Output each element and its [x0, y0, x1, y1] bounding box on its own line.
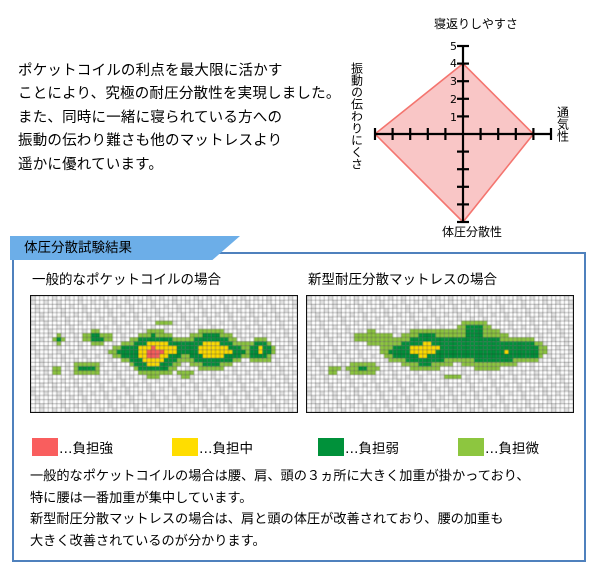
- intro-line: 遥かに優れています。: [18, 154, 328, 177]
- radar-tick-label-1: 1: [450, 111, 457, 124]
- pressure-map-conventional: [30, 295, 298, 413]
- pressure-map-canvas: [31, 296, 297, 412]
- result-notes: 一般的なポケットコイルの場合は腰、肩、頭の３ヵ所に大きく加重が掛かっており、 特…: [30, 466, 578, 552]
- legend-item-strong: …負担強: [32, 436, 113, 458]
- legend-label-minimal: …負担微: [485, 437, 539, 457]
- intro-line: ことにより、究極の耐圧分散性を実現しました。: [18, 83, 328, 106]
- legend-swatch-strong: [32, 438, 58, 456]
- radar-axis-label-right: 通気性: [556, 106, 568, 142]
- panel-title: 一般的なポケットコイルの場合: [32, 268, 302, 288]
- legend-label-strong: …負担強: [59, 437, 113, 457]
- intro-line: また、同時に一緒に寝られている方への: [18, 107, 328, 130]
- legend-swatch-weak: [318, 438, 344, 456]
- note-line: 特に腰は一番加重が集中しています。: [30, 488, 578, 510]
- note-line: 一般的なポケットコイルの場合は腰、肩、頭の３ヵ所に大きく加重が掛かっており、: [30, 466, 578, 488]
- intro-paragraph: ポケットコイルの利点を最大限に活かす ことにより、究極の耐圧分散性を実現しました…: [18, 60, 328, 177]
- legend-label-weak: …負担弱: [345, 437, 399, 457]
- radar-tick-label-2: 2: [450, 93, 457, 106]
- pressure-map-new: [306, 295, 574, 413]
- product-info-page: ポケットコイルの利点を最大限に活かす ことにより、究極の耐圧分散性を実現しました…: [0, 0, 600, 579]
- pressure-test-section: 一般的なポケットコイルの場合 新型耐圧分散マットレスの場合 …負担強 …負担中: [12, 252, 586, 562]
- radar-axis-label-top: 寝返りしやすさ: [421, 18, 531, 30]
- radar-tick-label-4: 4: [450, 57, 457, 70]
- note-line: 大きく改善されているのが分かります。: [30, 531, 578, 553]
- legend-item-medium: …負担中: [172, 436, 253, 458]
- radar-axis-label-bottom: 体圧分散性: [417, 226, 527, 238]
- intro-line: 振動の伝わり難さも他のマットレスより: [18, 130, 328, 153]
- section-banner: 体圧分散試験結果: [10, 236, 240, 260]
- panel-conventional: 一般的なポケットコイルの場合: [30, 268, 302, 413]
- intro-line: ポケットコイルの利点を最大限に活かす: [18, 60, 328, 83]
- legend-item-minimal: …負担微: [458, 436, 539, 458]
- pressure-map-panels: 一般的なポケットコイルの場合 新型耐圧分散マットレスの場合: [14, 268, 584, 436]
- legend-label-medium: …負担中: [199, 437, 253, 457]
- radar-tick-label-3: 3: [450, 75, 457, 88]
- note-line: 新型耐圧分散マットレスの場合は、肩と頭の体圧が改善されており、腰の加重も: [30, 509, 578, 531]
- legend-item-weak: …負担弱: [318, 436, 399, 458]
- radar-tick-label-5: 5: [450, 40, 457, 53]
- pressure-map-canvas: [307, 296, 573, 412]
- panel-title: 新型耐圧分散マットレスの場合: [308, 268, 578, 288]
- legend-swatch-minimal: [458, 438, 484, 456]
- panel-new: 新型耐圧分散マットレスの場合: [306, 268, 578, 413]
- performance-radar-chart: 寝返りしやすさ 通気性 体圧分散性 振動の伝わりにくさ 5 4 3 2 1: [332, 18, 594, 246]
- legend-swatch-medium: [172, 438, 198, 456]
- radar-axis-label-left: 振動の伝わりにくさ: [350, 62, 362, 170]
- pressure-legend: …負担強 …負担中 …負担弱 …負担微: [30, 436, 580, 458]
